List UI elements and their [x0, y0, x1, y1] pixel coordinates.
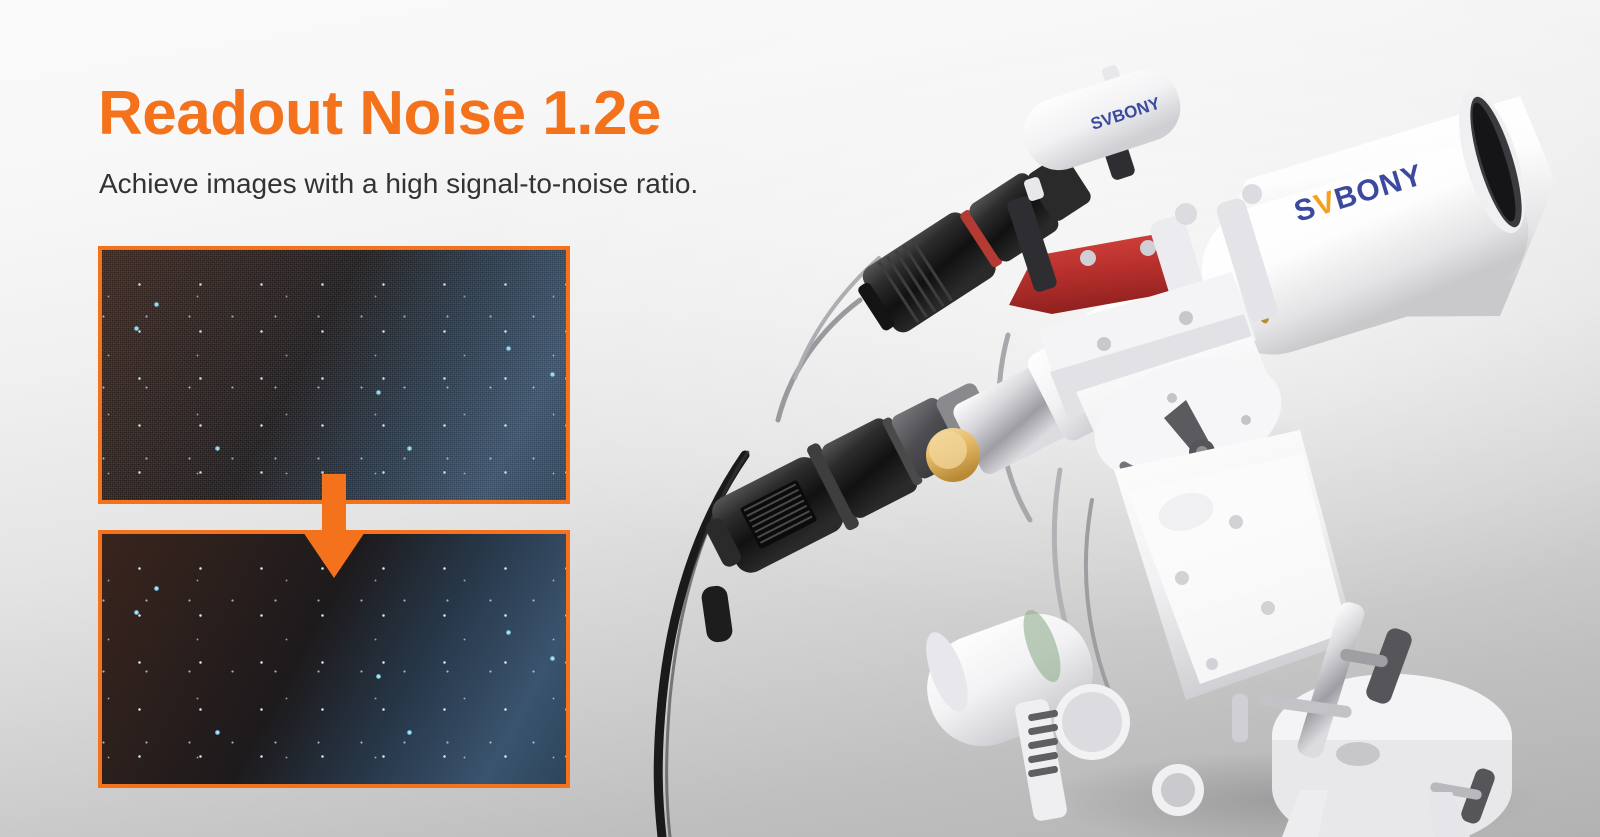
page-subtitle: Achieve images with a high signal-to-noi… — [99, 168, 698, 200]
down-arrow-icon — [303, 474, 365, 578]
noise-grain-overlay — [98, 246, 570, 504]
mount-body — [1114, 430, 1356, 700]
page-title: Readout Noise 1.2e — [98, 78, 661, 149]
bracket-screw — [1080, 250, 1096, 266]
promo-banner: Readout Noise 1.2e Achieve images with a… — [0, 0, 1600, 837]
noisy-image-panel — [98, 246, 570, 504]
bracket-screw — [1140, 240, 1156, 256]
guide-scope — [850, 144, 1099, 343]
